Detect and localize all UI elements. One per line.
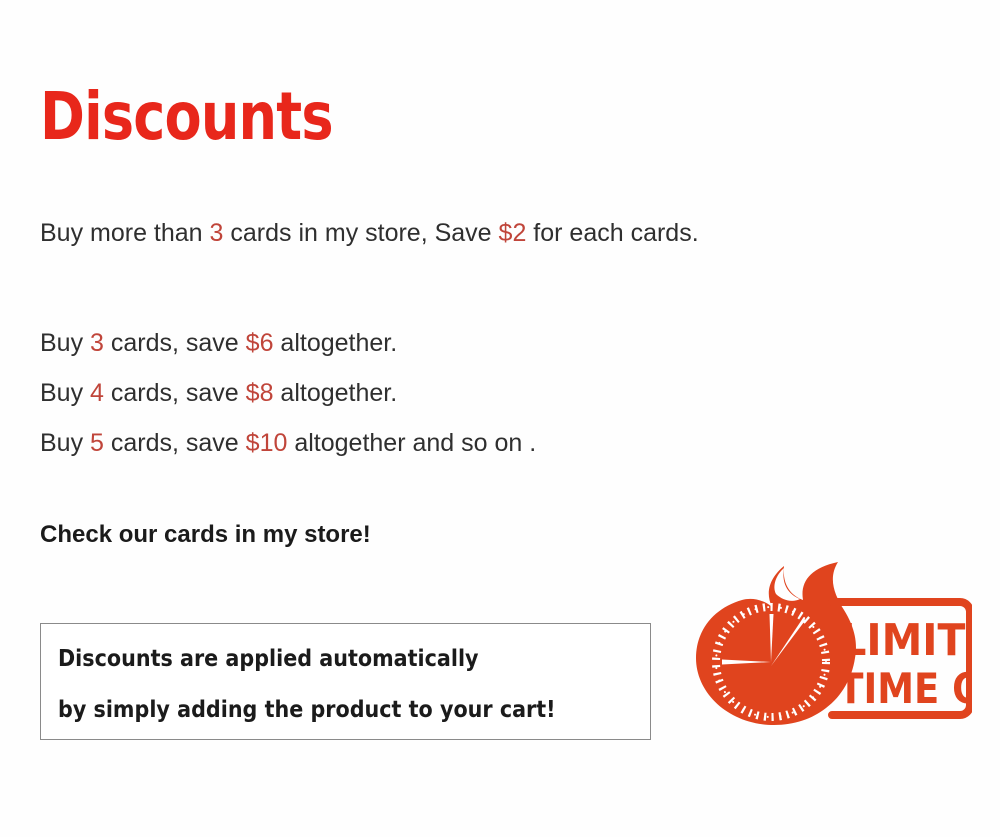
discount-tier-list: Buy 3 cards, save $6 altogether. Buy 4 c… xyxy=(40,318,536,468)
tier-suffix: altogether and so on . xyxy=(287,429,536,457)
lead-text-part1: Buy more than xyxy=(40,219,210,247)
tier-quantity: 3 xyxy=(90,329,104,357)
limited-time-offer-badge: LIMITED TIME OFFER xyxy=(672,562,972,747)
tier-amount: $8 xyxy=(246,379,274,407)
lead-sentence: Buy more than 3 cards in my store, Save … xyxy=(40,218,699,248)
badge-line-2: TIME OFFER xyxy=(838,665,972,714)
note-line-2: by simply adding the product to your car… xyxy=(58,699,556,722)
flame-clock-icon: LIMITED TIME OFFER xyxy=(672,562,972,747)
lead-text-part3: for each cards. xyxy=(526,219,698,247)
lead-quantity: 3 xyxy=(210,219,224,247)
auto-discount-note-box: Discounts are applied automatically by s… xyxy=(40,623,651,740)
tier-quantity: 4 xyxy=(90,379,104,407)
tier-middle: cards, save xyxy=(104,429,246,457)
tier-prefix: Buy xyxy=(40,329,90,357)
tier-amount: $10 xyxy=(246,429,288,457)
discount-promo-page: Discounts Buy more than 3 cards in my st… xyxy=(0,0,1000,837)
tier-row: Buy 5 cards, save $10 altogether and so … xyxy=(40,418,536,468)
page-title: Discounts xyxy=(40,84,333,150)
tier-prefix: Buy xyxy=(40,429,90,457)
tier-prefix: Buy xyxy=(40,379,90,407)
tier-middle: cards, save xyxy=(104,329,246,357)
tier-row: Buy 3 cards, save $6 altogether. xyxy=(40,318,536,368)
note-line-1: Discounts are applied automatically xyxy=(58,648,479,671)
tier-row: Buy 4 cards, save $8 altogether. xyxy=(40,368,536,418)
tier-suffix: altogether. xyxy=(273,379,397,407)
badge-line-1: LIMITED xyxy=(840,616,972,667)
tier-suffix: altogether. xyxy=(273,329,397,357)
tier-amount: $6 xyxy=(246,329,274,357)
tier-middle: cards, save xyxy=(104,379,246,407)
lead-text-part2: cards in my store, Save xyxy=(223,219,498,247)
lead-amount: $2 xyxy=(499,219,527,247)
store-cta-text: Check our cards in my store! xyxy=(40,520,371,550)
tier-quantity: 5 xyxy=(90,429,104,457)
